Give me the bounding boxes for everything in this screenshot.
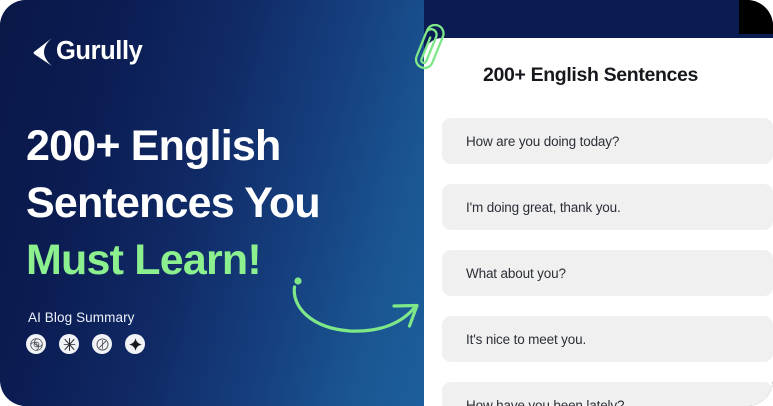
list-item[interactable]: What about you? <box>442 250 773 296</box>
gemini-sparkle-icon <box>125 334 145 354</box>
headline-line-1: 200+ English <box>26 118 406 175</box>
sentences-panel: 200+ English Sentences How are you doing… <box>424 38 773 406</box>
left-chevron-icon <box>31 37 53 67</box>
hero-headline: 200+ English Sentences You Must Learn! <box>26 118 406 288</box>
panel-title: 200+ English Sentences <box>424 64 757 87</box>
ai-model-icon-row <box>26 334 145 354</box>
headline-line-2: Sentences You <box>26 175 406 232</box>
perplexity-icon <box>92 334 112 354</box>
list-item[interactable]: It's nice to meet you. <box>442 316 773 362</box>
brand-logo[interactable]: Gurully <box>31 36 142 68</box>
hero-subtitle: AI Blog Summary <box>28 310 135 325</box>
blog-summary-card: Gurully 200+ English Sentences You Must … <box>0 0 773 406</box>
list-item[interactable]: How have you been lately? <box>442 382 773 406</box>
curved-arrow-icon <box>288 276 428 342</box>
list-item[interactable]: How are you doing today? <box>442 118 773 164</box>
brand-name: Gurully <box>56 39 142 65</box>
list-item[interactable]: I'm doing great, thank you. <box>442 184 773 230</box>
sentence-list[interactable]: How are you doing today? I'm doing great… <box>442 118 773 406</box>
paperclip-icon <box>406 24 452 78</box>
anthropic-claude-icon <box>59 334 79 354</box>
openai-icon <box>26 334 46 354</box>
